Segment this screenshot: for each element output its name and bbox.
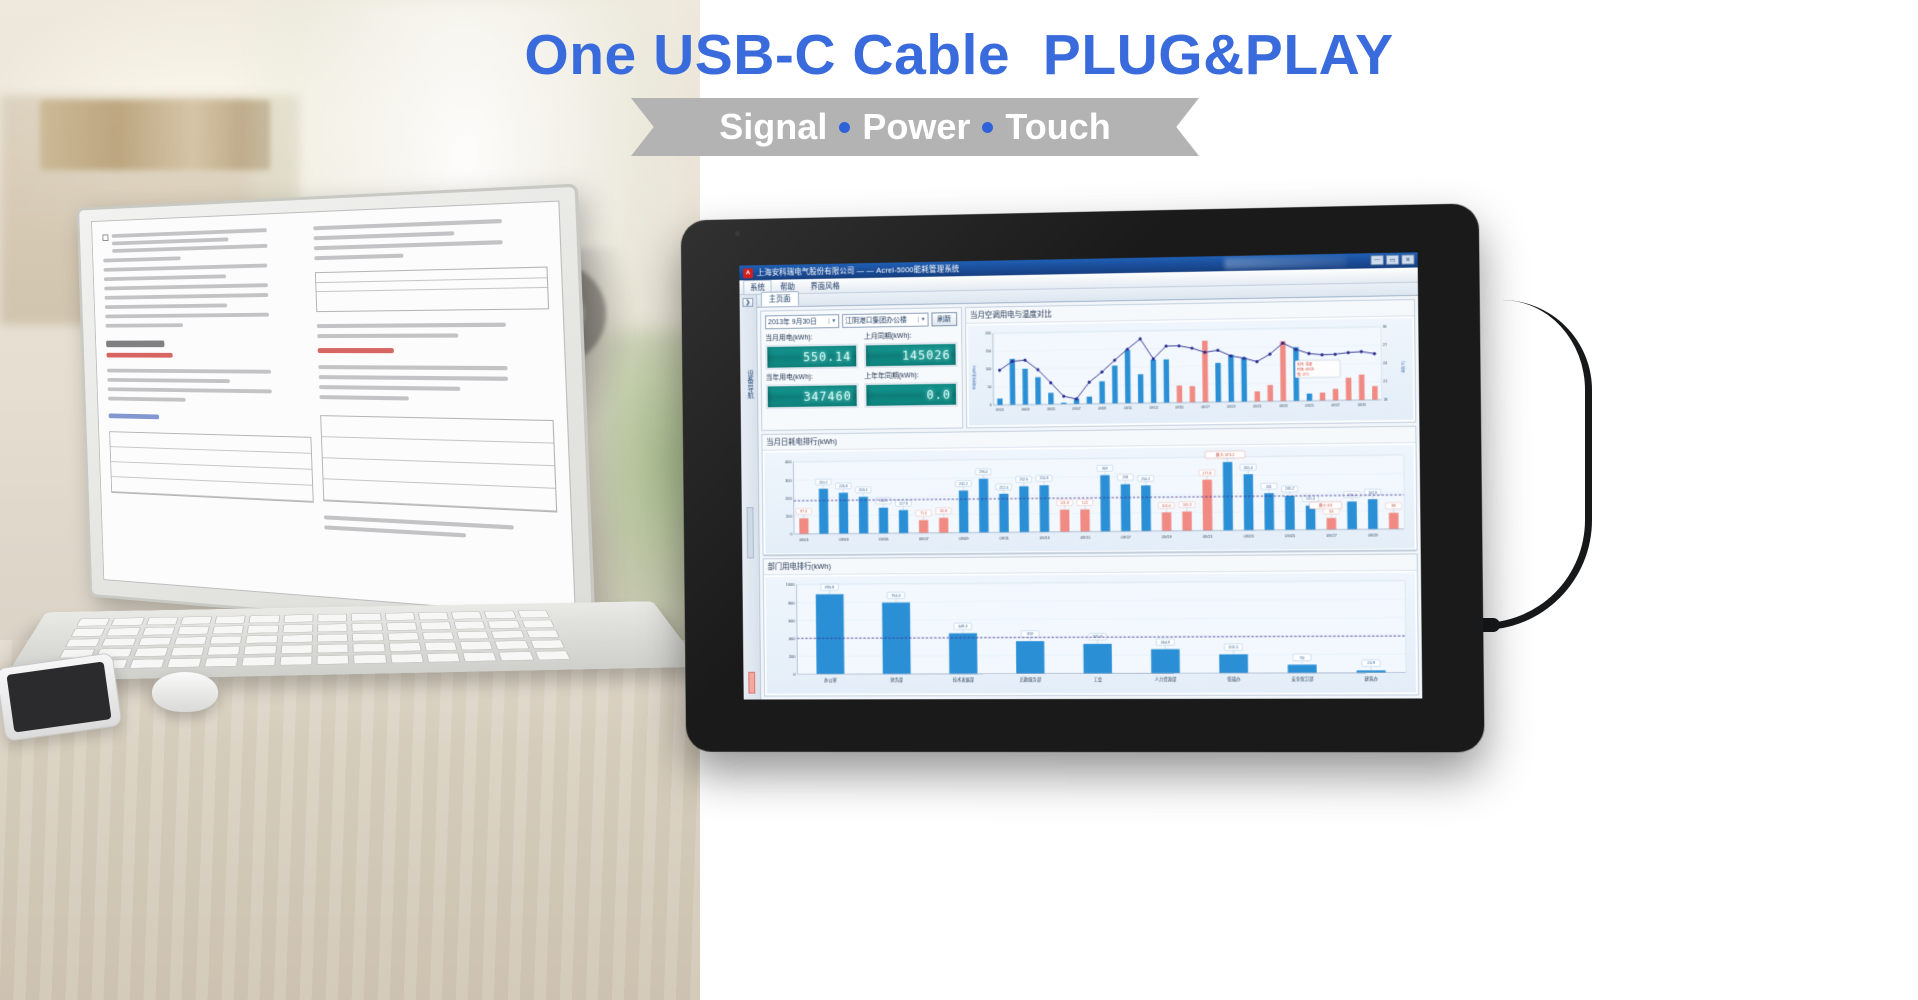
svg-text:温度(℃): 温度(℃)	[1401, 361, 1406, 373]
svg-text:09/01: 09/01	[996, 408, 1004, 412]
kpi-last-year-usage: 上年年同期(kWh): 0.0	[864, 370, 958, 408]
svg-text:232.2: 232.2	[959, 482, 968, 486]
touch-monitor-device: A 上海安科瑞电气股份有限公司 — — Acrel-5000能耗管理系统 — ▭…	[681, 203, 1485, 752]
svg-text:24.9: 24.9	[1367, 661, 1375, 665]
top-row: 2013年 9月30日 ▼ 江阴港口集团办公楼 ▼ 刷新	[760, 299, 1416, 431]
svg-text:0: 0	[790, 532, 793, 537]
svg-text:09/15: 09/15	[1080, 534, 1090, 539]
site-select[interactable]: 江阴港口集团办公楼 ▼	[842, 313, 929, 328]
svg-text:时间: 09/23: 时间: 09/23	[1297, 366, 1314, 371]
chevron-down-icon: ▼	[918, 317, 926, 323]
dashboard-panels: 2013年 9月30日 ▼ 江阴港口集团办公楼 ▼ 刷新	[757, 296, 1422, 700]
svg-text:系列: 温度: 系列: 温度	[1297, 361, 1313, 366]
svg-text:87.4: 87.4	[800, 510, 807, 514]
svg-text:09/03: 09/03	[839, 536, 849, 541]
document-column-left	[102, 227, 316, 582]
svg-text:309: 309	[1102, 467, 1108, 471]
svg-text:201: 201	[1266, 485, 1272, 489]
svg-text:后勤服务部: 后勤服务部	[1020, 676, 1042, 683]
svg-text:205.5: 205.5	[1229, 645, 1239, 649]
svg-text:0: 0	[793, 672, 796, 677]
svg-text:09/23: 09/23	[1244, 533, 1254, 538]
svg-text:18: 18	[1383, 398, 1387, 402]
menu-item-theme[interactable]: 界面风格	[804, 278, 847, 294]
chart-plot-area[interactable]: 050100150200182124273009/0109/0309/0509/…	[968, 318, 1413, 425]
svg-text:值: 27.5: 值: 27.5	[1297, 371, 1309, 376]
svg-text:794.3: 794.3	[891, 594, 900, 598]
svg-text:09/05: 09/05	[879, 536, 889, 541]
svg-text:250.2: 250.2	[1141, 477, 1150, 481]
svg-text:09/07: 09/07	[919, 536, 929, 541]
expand-rail-button[interactable]: ❯	[742, 298, 753, 307]
svg-text:30: 30	[1383, 325, 1387, 329]
svg-text:09/09: 09/09	[959, 535, 969, 540]
svg-text:09/27: 09/27	[1326, 532, 1336, 537]
svg-text:最小:63: 最小:63	[1319, 503, 1333, 508]
kpi-label: 当年用电(kWh):	[766, 371, 859, 382]
laptop-lid	[77, 184, 597, 640]
kpi-label: 当月用电(kWh):	[765, 332, 858, 343]
kpi-label: 上年年同期(kWh):	[864, 370, 958, 381]
svg-text:449.3: 449.3	[958, 624, 968, 628]
tablet-display: A 上海安科瑞电气股份有限公司 — — Acrel-5000能耗管理系统 — ▭…	[739, 252, 1422, 699]
kpi-month-usage: 当月用电(kWh): 550.14	[765, 332, 858, 370]
svg-text:09/11: 09/11	[1124, 406, 1132, 410]
maximize-button[interactable]: ▭	[1386, 255, 1399, 265]
page-headline: One USB-C Cable PLUG&PLAY	[0, 22, 1918, 88]
kpi-label: 上月同期(kWh):	[864, 330, 958, 341]
document-table	[109, 431, 314, 503]
office-photo-background	[0, 0, 700, 1000]
svg-text:27: 27	[1383, 343, 1387, 347]
chart-ac-vs-temp: 当月空调用电与温度对比 050100150200182124273009/010…	[965, 299, 1416, 428]
svg-text:09/17: 09/17	[1201, 405, 1209, 409]
computer-mouse	[152, 672, 218, 712]
filter-bar: 2013年 9月30日 ▼ 江阴港口集团办公楼 ▼ 刷新	[765, 312, 957, 329]
tab-main-page[interactable]: 主页面	[761, 291, 799, 307]
svg-text:1000: 1000	[786, 582, 796, 587]
svg-text:203.4: 203.4	[859, 488, 868, 492]
chevron-down-icon: ▼	[828, 318, 836, 324]
document-column-right	[313, 217, 561, 600]
refresh-button[interactable]: 刷新	[931, 312, 957, 326]
kpi-value-display: 0.0	[864, 382, 958, 408]
svg-text:09/11: 09/11	[999, 535, 1009, 540]
kpi-last-month-usage: 上月同期(kWh): 145026	[864, 330, 958, 368]
ribbon-power-label: Power	[862, 106, 970, 148]
date-picker[interactable]: 2013年 9月30日 ▼	[765, 314, 839, 329]
svg-text:256.8: 256.8	[1040, 477, 1049, 481]
chart-title: 部门用电排行(kWh)	[764, 554, 1417, 575]
svg-text:258: 258	[1122, 476, 1128, 480]
svg-text:09/07: 09/07	[1073, 407, 1081, 411]
svg-text:24: 24	[1383, 362, 1387, 366]
chart-plot-area[interactable]: 02004006008001000890.8794.3449.3359325.9…	[766, 573, 1416, 694]
svg-text:21: 21	[1383, 380, 1387, 384]
svg-text:105.3: 105.3	[1182, 503, 1191, 507]
svg-text:财务部: 财务部	[890, 677, 904, 684]
svg-text:250.2: 250.2	[819, 480, 828, 484]
svg-text:09/17: 09/17	[1121, 534, 1131, 539]
svg-text:200: 200	[785, 496, 792, 501]
svg-text:212.4: 212.4	[999, 485, 1008, 489]
rail-scrollbar-thumb[interactable]	[747, 507, 754, 558]
svg-text:09/29: 09/29	[1358, 403, 1367, 407]
svg-text:09/01: 09/01	[799, 537, 809, 542]
svg-text:技术发展部: 技术发展部	[953, 676, 975, 683]
kpi-value-display: 347460	[766, 383, 859, 409]
site-value: 江阴港口集团办公楼	[845, 315, 907, 326]
titlebar-decoration	[1224, 256, 1346, 269]
svg-text:工会: 工会	[1094, 676, 1103, 683]
svg-text:63: 63	[1329, 509, 1333, 513]
minimize-button[interactable]: —	[1370, 255, 1383, 265]
svg-text:252.6: 252.6	[1019, 478, 1028, 482]
window-controls: — ▭ ✕	[1370, 254, 1414, 265]
svg-text:09/29: 09/29	[1368, 532, 1378, 537]
svg-text:100: 100	[986, 368, 992, 372]
svg-text:121.8: 121.8	[1060, 501, 1069, 505]
svg-text:359: 359	[1027, 632, 1033, 636]
svg-text:185.2: 185.2	[1285, 487, 1294, 491]
svg-text:100: 100	[786, 514, 793, 519]
ribbon-signal-label: Signal	[719, 106, 827, 148]
svg-text:200: 200	[789, 654, 796, 659]
svg-text:890.8: 890.8	[825, 585, 834, 589]
svg-text:09/09: 09/09	[1098, 406, 1106, 410]
svg-text:09/19: 09/19	[1162, 534, 1172, 539]
svg-text:09/25: 09/25	[1285, 533, 1295, 538]
svg-text:400: 400	[785, 460, 792, 465]
kpi-year-usage: 当年用电(kWh): 347460	[766, 371, 859, 409]
svg-text:277.8: 277.8	[1203, 471, 1212, 475]
chart-department-ranking: 部门用电排行(kWh) 02004006008001000890.8794.34…	[763, 553, 1420, 696]
svg-text:800: 800	[788, 600, 795, 605]
svg-text:296.4: 296.4	[979, 470, 988, 474]
svg-text:安全保卫部: 安全保卫部	[1291, 676, 1314, 683]
close-button[interactable]: ✕	[1401, 254, 1414, 264]
laptop	[30, 196, 680, 676]
svg-text:90: 90	[1300, 656, 1304, 660]
svg-text:127.8: 127.8	[899, 502, 908, 506]
kpi-value-display: 550.14	[765, 344, 858, 370]
svg-text:09/21: 09/21	[1203, 533, 1213, 538]
ribbon-touch-label: Touch	[1005, 106, 1110, 148]
svg-text:122: 122	[1082, 501, 1088, 505]
app-logo-icon: A	[743, 268, 753, 278]
svg-text:办公室: 办公室	[824, 677, 837, 684]
svg-text:300: 300	[785, 478, 792, 483]
svg-text:建筑办: 建筑办	[1365, 675, 1379, 682]
window-title: 上海安科瑞电气股份有限公司 — — Acrel-5000能耗管理系统	[757, 263, 960, 278]
svg-text:88: 88	[1392, 504, 1396, 508]
svg-text:400: 400	[788, 636, 795, 641]
svg-text:50: 50	[988, 386, 992, 390]
acrel-energy-app: A 上海安科瑞电气股份有限公司 — — Acrel-5000能耗管理系统 — ▭…	[739, 252, 1422, 699]
kpi-grid: 当月用电(kWh): 550.14 上月同期(kWh): 145026 当年用电…	[765, 330, 958, 409]
svg-text:09/03: 09/03	[1021, 408, 1029, 412]
svg-text:264.9: 264.9	[1160, 640, 1170, 644]
svg-text:09/13: 09/13	[1040, 535, 1050, 540]
svg-text:最大:373.2: 最大:373.2	[1216, 452, 1235, 457]
rail-vertical-label: 设备导航	[744, 370, 754, 400]
books	[40, 100, 270, 170]
kpi-panel: 2013年 9月30日 ▼ 江阴港口集团办公楼 ▼ 刷新	[760, 307, 963, 431]
svg-text:162.8: 162.8	[1368, 491, 1377, 495]
svg-text:09/23: 09/23	[1279, 404, 1287, 408]
svg-text:09/05: 09/05	[1047, 407, 1055, 411]
svg-text:82.8: 82.8	[940, 509, 947, 513]
svg-text:09/27: 09/27	[1332, 403, 1341, 407]
svg-text:71.4: 71.4	[920, 512, 927, 516]
kpi-value-display: 145026	[864, 342, 958, 368]
svg-text:09/13: 09/13	[1150, 406, 1158, 410]
svg-text:305.4: 305.4	[1244, 466, 1253, 470]
svg-text:低碳办: 低碳办	[1227, 676, 1241, 683]
svg-text:226.8: 226.8	[839, 484, 848, 488]
laptop-screen	[91, 201, 576, 618]
svg-text:0: 0	[990, 404, 992, 408]
rail-indicator	[748, 672, 755, 694]
camera-icon	[735, 231, 740, 236]
date-value: 2013年 9月30日	[768, 317, 817, 328]
svg-text:人力资源部: 人力资源部	[1155, 676, 1178, 683]
bullet-icon	[102, 234, 108, 241]
svg-text:09/25: 09/25	[1305, 404, 1313, 408]
chart-daily-ranking: 当月日耗电排行(kWh) 010020030040087.4250.2226.8…	[761, 426, 1417, 556]
svg-text:09/15: 09/15	[1175, 405, 1183, 409]
svg-text:空调用电量(kWh): 空调用电量(kWh)	[971, 365, 976, 389]
svg-text:600: 600	[788, 618, 795, 623]
svg-text:131.4: 131.4	[1306, 497, 1315, 501]
chart-plot-area[interactable]: 010020030040087.4250.2226.8203.4142.0127…	[764, 445, 1414, 554]
svg-text:09/21: 09/21	[1253, 404, 1261, 408]
svg-text:101.6: 101.6	[1162, 504, 1171, 508]
app-content: 主页面 2013年 9月30日 ▼	[757, 283, 1422, 700]
svg-text:200: 200	[985, 332, 991, 336]
feature-ribbon: Signal Power Touch	[631, 98, 1199, 156]
separator-dot-icon	[839, 122, 850, 133]
svg-text:09/19: 09/19	[1227, 405, 1235, 409]
separator-dot-icon	[982, 122, 993, 133]
svg-text:150: 150	[985, 350, 991, 354]
